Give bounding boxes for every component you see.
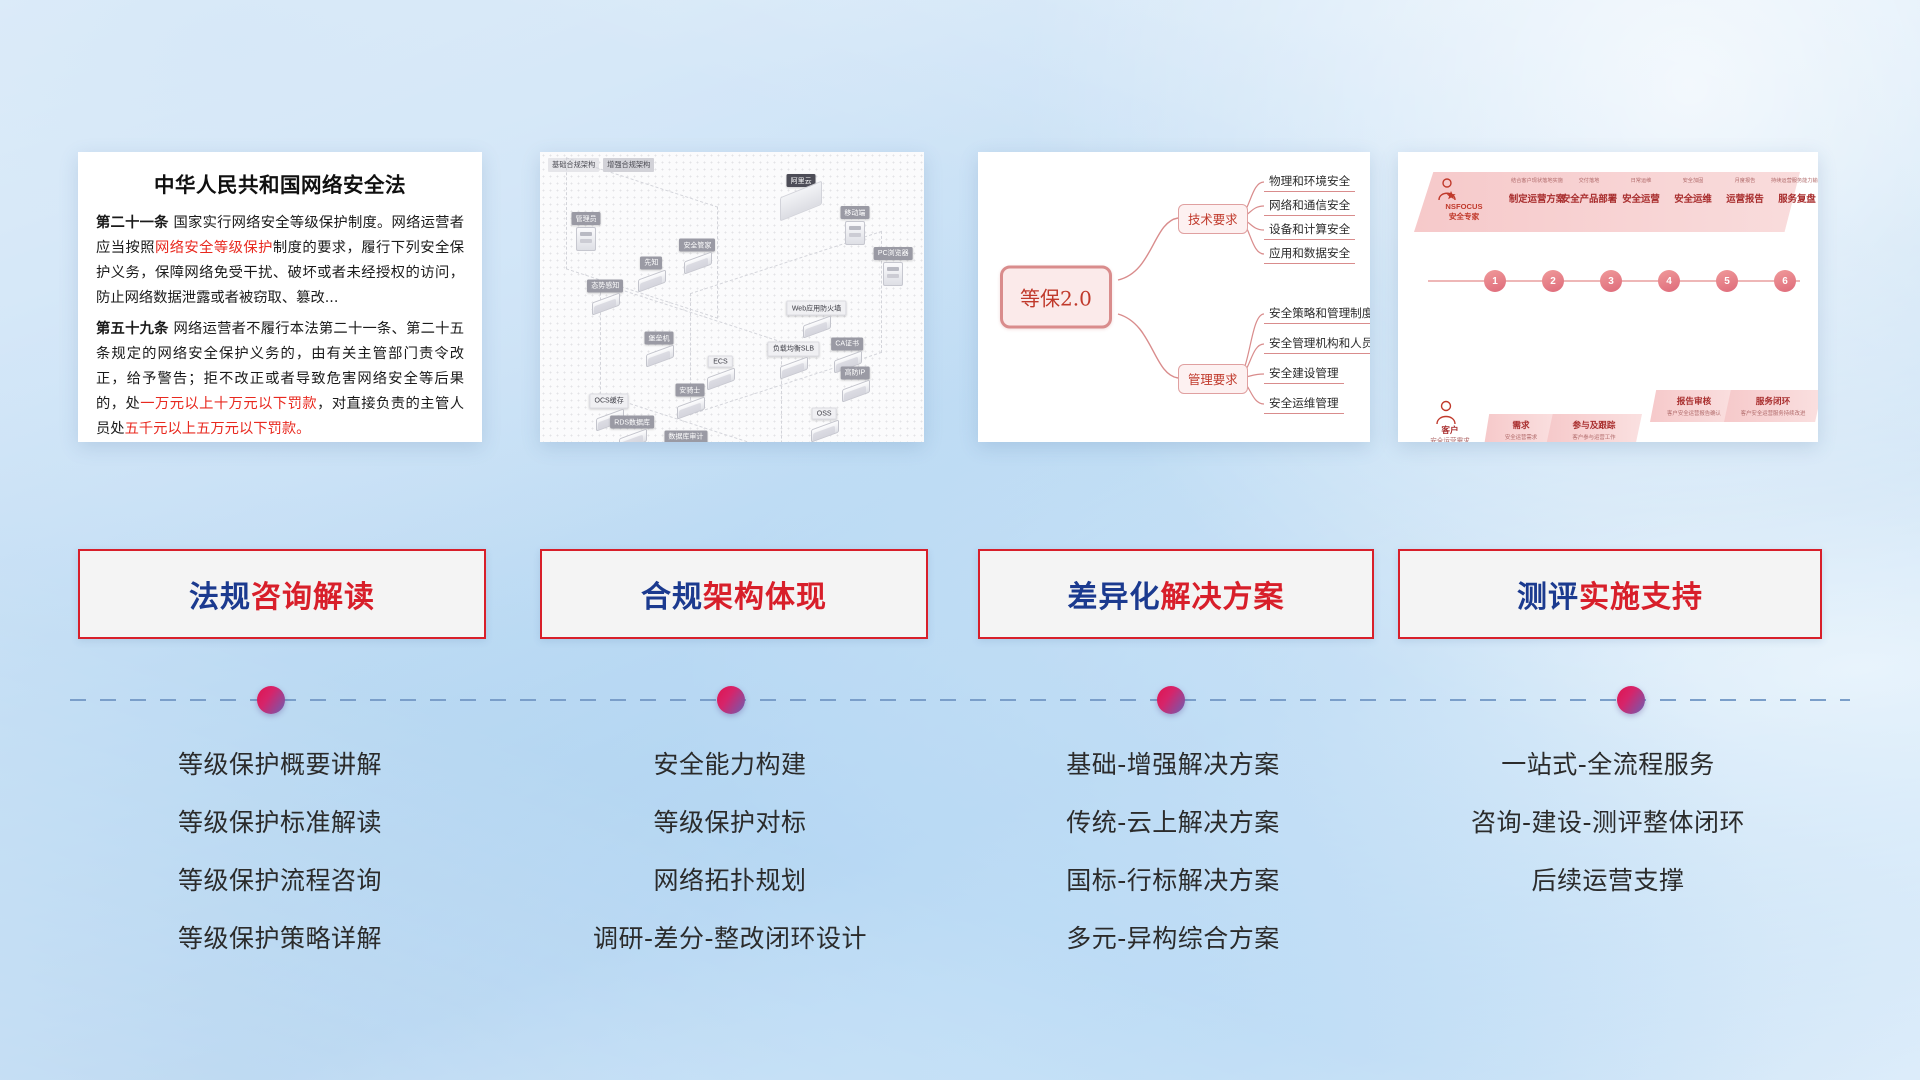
list-item: 基础-增强解决方案 <box>958 745 1388 781</box>
list-column-1: 等级保护概要讲解等级保护标准解读等级保护流程咨询等级保护策略详解 <box>78 745 482 977</box>
list-item: 传统-云上解决方案 <box>958 803 1388 839</box>
title-box-1[interactable]: 法规咨询解读 <box>78 549 486 639</box>
list-item: 网络拓扑规划 <box>528 861 932 897</box>
title-1-red: 咨询解读 <box>251 580 375 615</box>
title-2-navy: 合规 <box>641 580 703 615</box>
list-item: 等级保护对标 <box>528 803 932 839</box>
list-column-3: 基础-增强解决方案传统-云上解决方案国标-行标解决方案多元-异构综合方案 <box>958 745 1388 977</box>
list-item: 后续运营支撑 <box>1378 861 1838 897</box>
list-item: 国标-行标解决方案 <box>958 861 1388 897</box>
title-box-4[interactable]: 测评实施支持 <box>1398 549 1822 639</box>
list-item: 等级保护标准解读 <box>78 803 482 839</box>
title-3-red: 解决方案 <box>1161 580 1285 615</box>
list-item: 等级保护策略详解 <box>78 919 482 955</box>
timeline-dot-1[interactable] <box>257 686 285 714</box>
list-column-2: 安全能力构建等级保护对标网络拓扑规划调研-差分-整改闭环设计 <box>528 745 932 977</box>
title-box-3[interactable]: 差异化解决方案 <box>978 549 1374 639</box>
list-item: 一站式-全流程服务 <box>1378 745 1838 781</box>
list-item: 多元-异构综合方案 <box>958 919 1388 955</box>
list-item: 等级保护概要讲解 <box>78 745 482 781</box>
timeline-dot-2[interactable] <box>717 686 745 714</box>
title-1-navy: 法规 <box>189 580 251 615</box>
title-2-red: 架构体现 <box>703 580 827 615</box>
list-item: 咨询-建设-测评整体闭环 <box>1378 803 1838 839</box>
timeline-dot-4[interactable] <box>1617 686 1645 714</box>
title-4-red: 实施支持 <box>1579 580 1703 615</box>
list-column-4: 一站式-全流程服务咨询-建设-测评整体闭环后续运营支撑 <box>1378 745 1838 919</box>
list-item: 安全能力构建 <box>528 745 932 781</box>
title-box-2[interactable]: 合规架构体现 <box>540 549 928 639</box>
title-4-navy: 测评 <box>1517 580 1579 615</box>
list-item: 等级保护流程咨询 <box>78 861 482 897</box>
list-item: 调研-差分-整改闭环设计 <box>528 919 932 955</box>
timeline-dashed-line <box>70 699 1850 701</box>
title-3-navy: 差异化 <box>1068 580 1161 615</box>
timeline-dot-3[interactable] <box>1157 686 1185 714</box>
